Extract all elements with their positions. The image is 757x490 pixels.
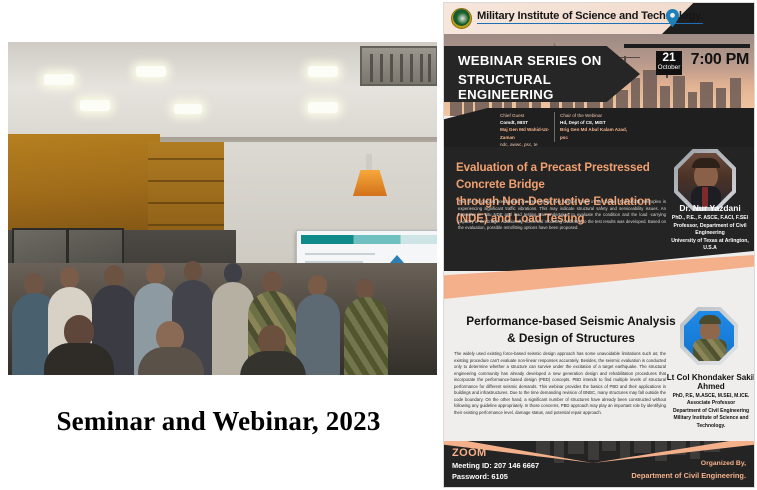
time-rule	[624, 44, 750, 48]
chief-guest-block: Chief Guest Comdt, MIST Maj Gen Md Wahid…	[500, 112, 554, 148]
webinar-poster: Military Institute of Science and Techno…	[443, 2, 755, 488]
poster-header: Military Institute of Science and Techno…	[444, 3, 754, 34]
talk-2-speaker-line-3: Department of Civil Engineering	[666, 408, 755, 415]
talk-2-section: Performance-based Seismic Analysis & Des…	[444, 299, 754, 449]
talk-1-section: Evaluation of a Precast Prestressed Conc…	[444, 147, 754, 271]
zoom-label: ZOOM	[452, 447, 487, 459]
zoom-password: Password: 6105	[452, 472, 508, 481]
uniform-head	[262, 271, 282, 293]
chief-guest-role: Chief Guest	[500, 112, 554, 119]
photo-content	[8, 42, 437, 375]
talk-1-speaker-line-3: University of Texas at Arlington, U.S.A	[666, 238, 754, 253]
ceiling-vent	[360, 46, 437, 86]
talk-1-abstract: The SH-75 precast prestressed concrete b…	[458, 199, 666, 232]
chair-name: Brig Gen Md Abul Kalam Azad, psc	[560, 127, 627, 139]
slide-caption: Seminar and Webinar, 2023	[0, 406, 437, 437]
talk-2-abstract: The widely used existing force-based sei…	[454, 351, 666, 416]
location-pin-icon	[666, 9, 679, 32]
downlight	[136, 66, 166, 77]
talk-2-title-line2: & Design of Structures	[507, 331, 635, 345]
downlight	[174, 104, 202, 114]
downlight	[44, 74, 74, 85]
organizer-name: Department of Civil Engineering.	[631, 471, 746, 480]
chair-block: Chair of the Webinar Hd, Dept of CE, MIS…	[560, 112, 634, 141]
talk-1-title-line1: Evaluation of a Precast Prestressed Conc…	[456, 161, 650, 191]
date-day: 21	[656, 51, 682, 64]
talk-2-speaker-line-1: PhD, P.E, M.ASCE, M.SEI, M.ICE.	[666, 393, 755, 400]
slide-header-bar	[301, 235, 437, 244]
talk-2-speaker-line-2: Associate Professor	[666, 400, 755, 407]
speaker-photo-2-image	[684, 311, 734, 361]
banner-arrow: WEBINAR SERIES ON STRUCTURAL ENGINEERING	[444, 46, 640, 102]
guest-divider	[554, 112, 555, 142]
chair-role: Chair of the Webinar	[560, 112, 634, 119]
pendant-lamp-stem	[366, 154, 372, 172]
speaker-photo-2	[680, 307, 738, 365]
guest-bar: Chief Guest Comdt, MIST Maj Gen Md Wahid…	[444, 108, 754, 148]
banner-title-line1: WEBINAR SERIES ON	[458, 53, 602, 68]
talk-2-speaker: Lt Col Khondaker Sakil Ahmed PhD, P.E, M…	[666, 373, 755, 430]
talk-1-speaker-name: Dr. Nur Yazdani	[666, 203, 754, 213]
talk-1-speaker-line-1: PhD., P.E., F. ASCE, F.ACI, F.SEI	[666, 215, 754, 223]
speaker-photo-1	[674, 149, 736, 211]
date-month: October	[656, 64, 682, 72]
talk-2-speaker-line-4: Military Institute of Science and Techno…	[666, 415, 755, 430]
audience-area	[8, 263, 437, 375]
poster-banner: WEBINAR SERIES ON STRUCTURAL ENGINEERING…	[444, 34, 754, 116]
speaker-photo-1-image	[678, 153, 732, 207]
downlight	[308, 66, 338, 77]
chief-guest-name: Maj Gen Md Wahid-Uz-Zaman	[500, 127, 549, 139]
downlight	[308, 102, 338, 113]
slide-page: Seminar and Webinar, 2023 Military Insti…	[0, 0, 757, 490]
talk-1-speaker: Dr. Nur Yazdani PhD., P.E., F. ASCE, F.A…	[666, 203, 754, 253]
organized-by-label: Organized By,	[701, 460, 746, 467]
poster-footer: ZOOM Meeting ID: 207 146 6667 Password: …	[444, 441, 754, 487]
talk-2-title: Performance-based Seismic Analysis & Des…	[466, 313, 676, 347]
seminar-photo	[8, 42, 437, 375]
date-badge: 21 October	[656, 51, 682, 75]
event-time: 7:00 PM	[691, 51, 749, 69]
talk-2-speaker-name: Lt Col Khondaker Sakil Ahmed	[666, 373, 755, 391]
talk-2-title-line1: Performance-based Seismic Analysis	[466, 314, 675, 328]
downlight	[80, 100, 110, 111]
zoom-meeting-id: Meeting ID: 207 146 6667	[452, 461, 539, 470]
chair-position: Hd, Dept of CE, MIST	[560, 120, 606, 125]
mist-crest-logo	[451, 8, 472, 29]
talk-1-speaker-line-2: Professor, Department of Civil Engineeri…	[666, 223, 754, 238]
chief-guest-position: Comdt, MIST	[500, 120, 528, 125]
